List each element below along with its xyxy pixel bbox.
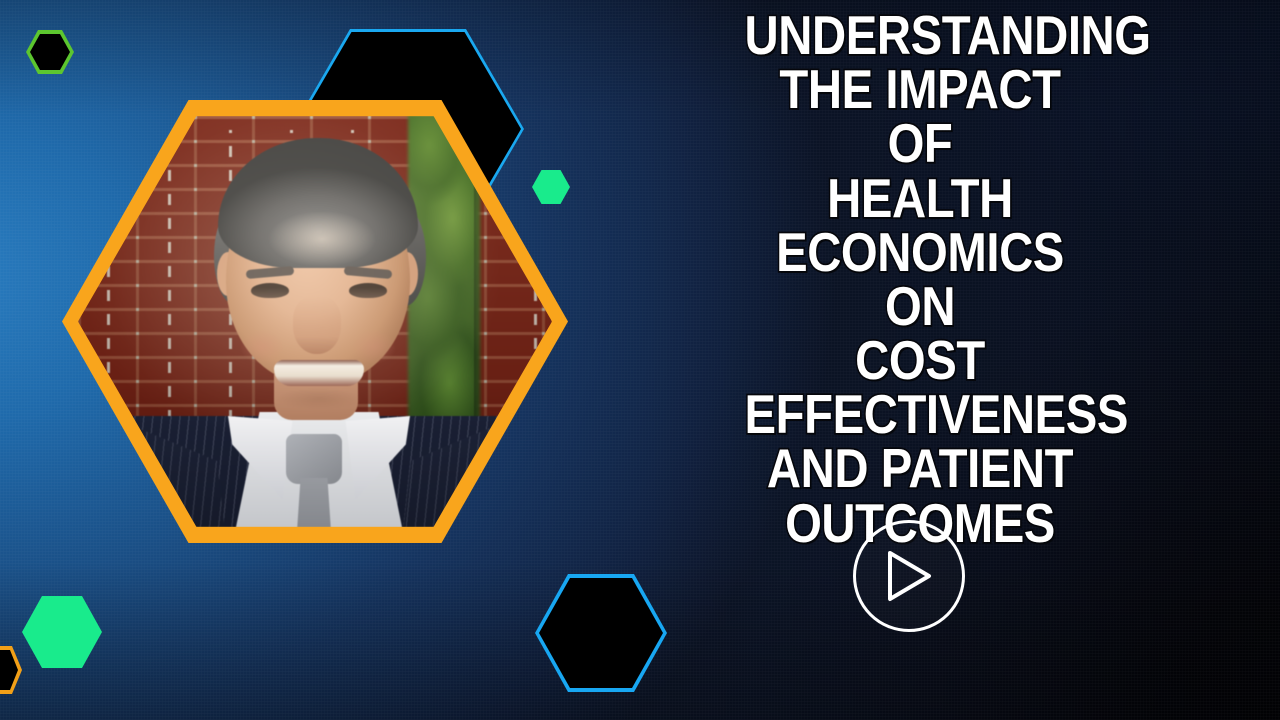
page-title: UNDERSTANDING THE IMPACT OF HEALTH ECONO…	[745, 8, 1096, 550]
video-thumbnail-slide: UNDERSTANDING THE IMPACT OF HEALTH ECONO…	[0, 0, 1280, 720]
play-button[interactable]	[853, 520, 965, 632]
hexagon-outline-green-top-left-cutout	[30, 34, 70, 70]
portrait-hexagon	[62, 100, 568, 543]
hexagon-outline-orange-left-edge-cutout	[0, 650, 18, 690]
play-triangle-icon	[884, 549, 934, 603]
hexagon-outline-cyan-bottom-cutout	[539, 578, 663, 688]
title-block: UNDERSTANDING THE IMPACT OF HEALTH ECONO…	[716, 8, 1124, 550]
